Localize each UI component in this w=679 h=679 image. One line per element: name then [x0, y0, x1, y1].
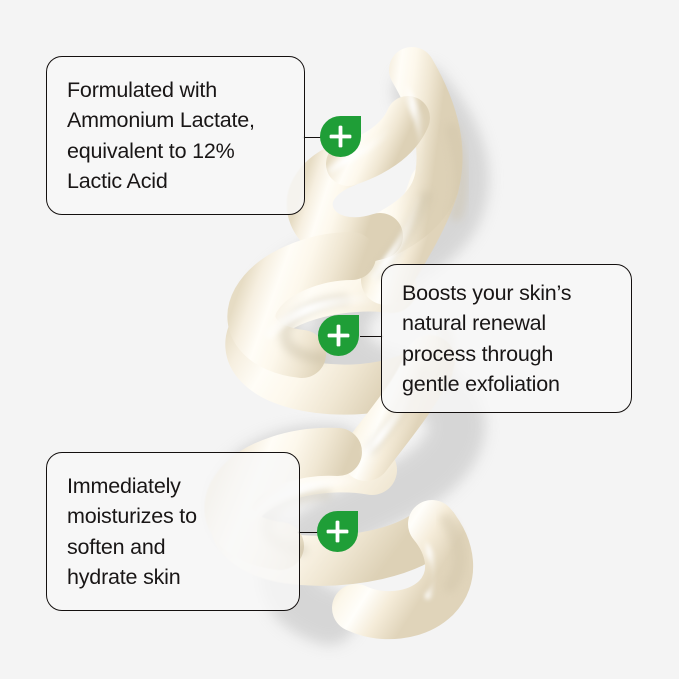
- callout-text-renewal: Boosts your skin’s natural renewal proce…: [382, 278, 591, 400]
- connector-line-2: [360, 336, 383, 338]
- callout-text-moisturize: Immediately moisturizes to soften and hy…: [47, 471, 217, 593]
- callout-box-renewal: Boosts your skin’s natural renewal proce…: [381, 264, 632, 413]
- leaf-plus-icon: [320, 116, 361, 157]
- infographic-canvas: Formulated with Ammonium Lactate, equiva…: [0, 0, 679, 679]
- leaf-plus-icon: [318, 315, 359, 356]
- callout-box-moisturize: Immediately moisturizes to soften and hy…: [46, 452, 300, 611]
- leaf-plus-icon: [317, 511, 358, 552]
- callout-text-formulation: Formulated with Ammonium Lactate, equiva…: [47, 75, 275, 197]
- callout-box-formulation: Formulated with Ammonium Lactate, equiva…: [46, 56, 305, 215]
